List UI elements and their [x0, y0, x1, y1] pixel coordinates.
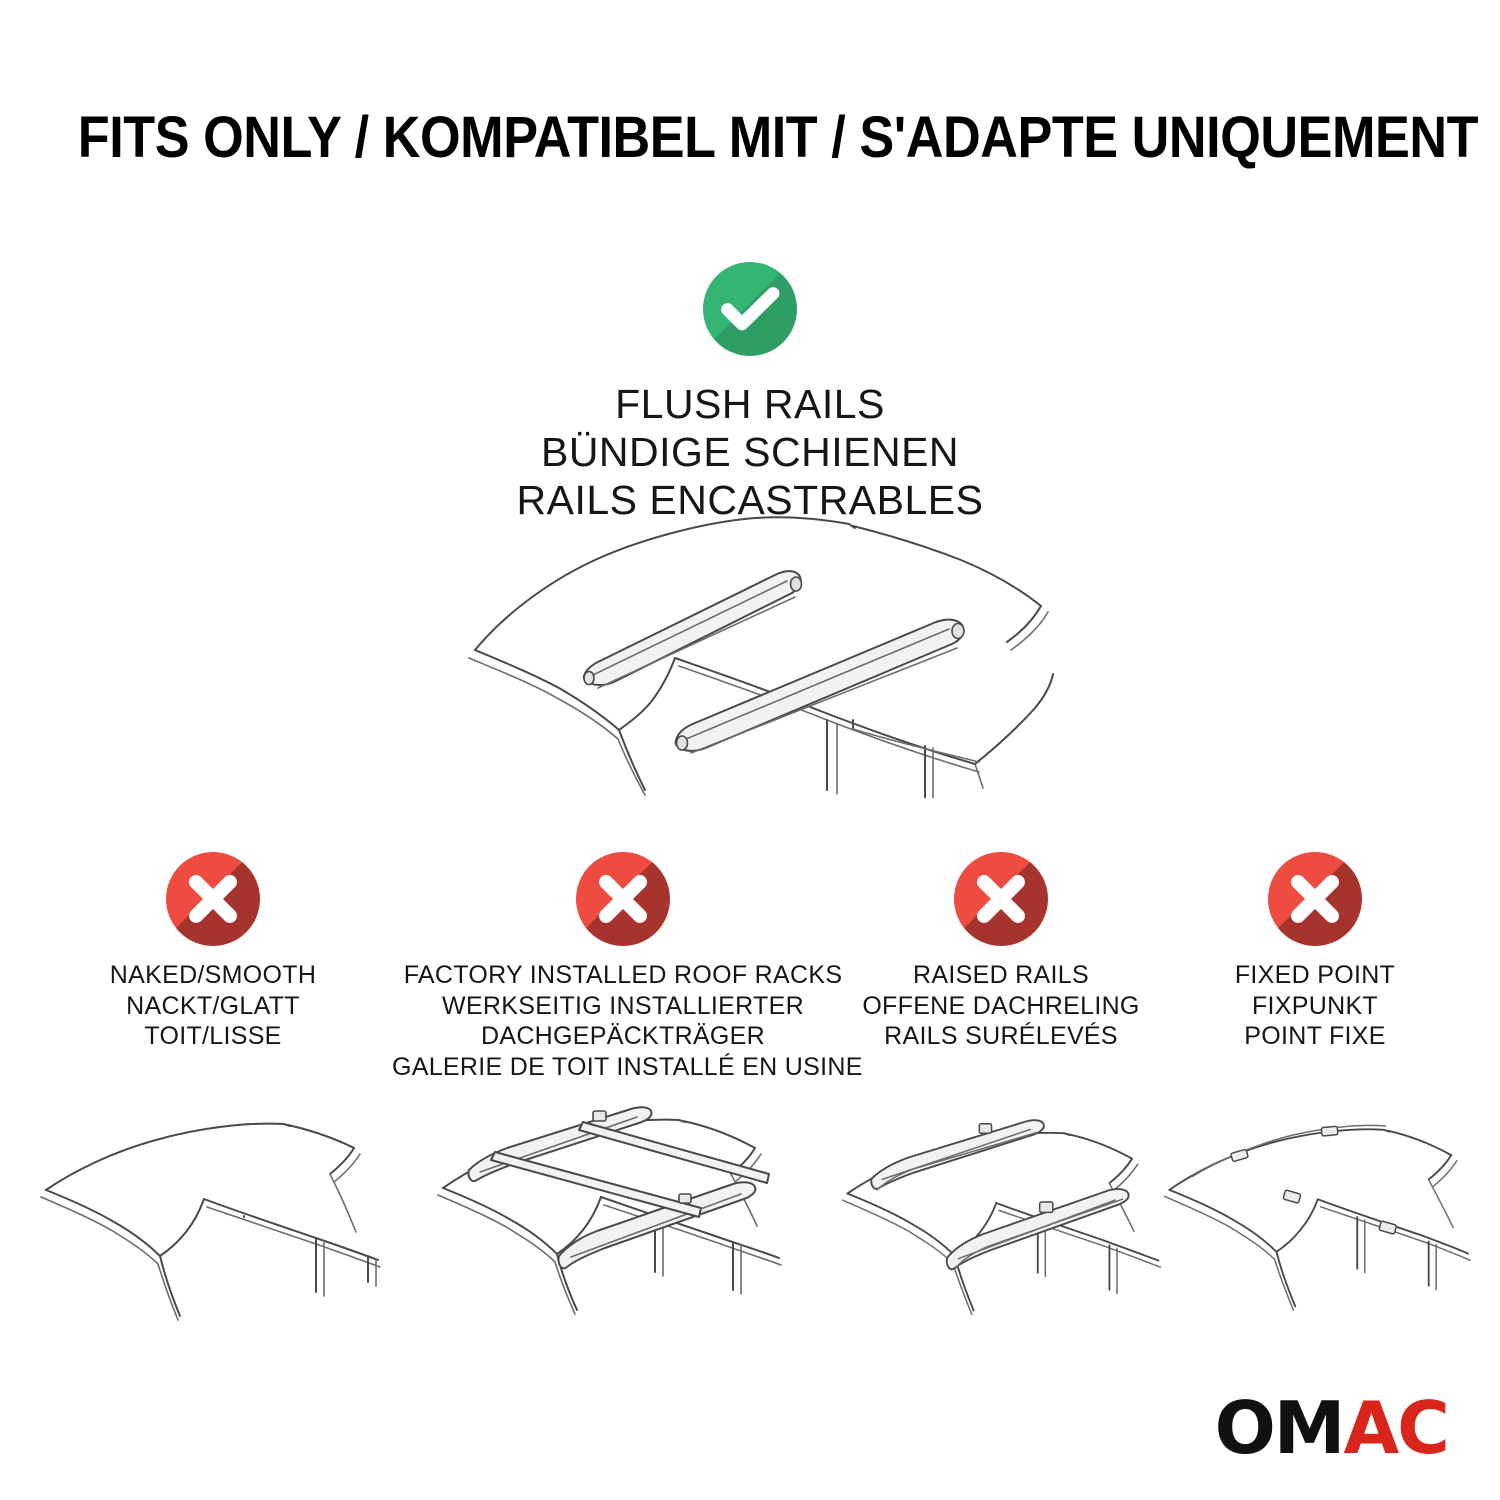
incompatible-section: NAKED/SMOOTH NACKT/GLATT TOIT/LISSE	[0, 852, 1500, 1332]
label-en-1: NAKED/SMOOTH	[38, 960, 388, 991]
incompatible-labels-4: FIXED POINT FIXPUNKT POINT FIXE	[1160, 960, 1470, 1052]
x-mark-glyph	[954, 852, 1048, 946]
x-circle-icon	[166, 852, 260, 946]
x-mark-glyph	[576, 852, 670, 946]
incompatible-icon-wrap-3	[836, 852, 1166, 948]
compatible-heading-en: FLUSH RAILS	[0, 381, 1500, 429]
omac-logo-accent: AC	[1343, 1386, 1448, 1470]
page-title: FITS ONLY / KOMPATIBEL MIT / S'ADAPTE UN…	[78, 104, 1478, 171]
label-en-3: RAISED RAILS	[836, 960, 1166, 991]
car-roof-naked-illustration	[38, 1104, 388, 1334]
incompatible-labels-3: RAISED RAILS OFFENE DACHRELING RAILS SUR…	[836, 960, 1166, 1052]
incompatible-icon-wrap-1	[38, 852, 388, 948]
x-circle-icon	[954, 852, 1048, 946]
incompatible-item-fixed-point: FIXED POINT FIXPUNKT POINT FIXE	[1160, 852, 1470, 1334]
incompatible-item-factory-racks: FACTORY INSTALLED ROOF RACKS WERKSEITIG …	[392, 852, 854, 1326]
car-roof-factory-racks-illustration	[392, 1096, 854, 1326]
check-mark-glyph	[703, 262, 797, 356]
incompatible-item-raised-rails: RAISED RAILS OFFENE DACHRELING RAILS SUR…	[836, 852, 1166, 1334]
page-title-bar: FITS ONLY / KOMPATIBEL MIT / S'ADAPTE UN…	[0, 104, 1500, 171]
x-circle-icon	[576, 852, 670, 946]
car-roof-flush-rails-illustration	[455, 498, 1065, 798]
label-de-1: NACKT/GLATT	[38, 991, 388, 1022]
label-fr-2: GALERIE DE TOIT INSTALLÉ EN USINE	[392, 1052, 854, 1083]
x-mark-glyph	[1268, 852, 1362, 946]
label-de-4: FIXPUNKT	[1160, 991, 1470, 1022]
x-circle-icon	[1268, 852, 1362, 946]
compatible-section: FLUSH RAILS BÜNDIGE SCHIENEN RAILS ENCAS…	[0, 262, 1500, 525]
x-mark-glyph	[166, 852, 260, 946]
label-de-3: OFFENE DACHRELING	[836, 991, 1166, 1022]
check-circle-icon	[703, 262, 797, 356]
omac-logo-dark: OM	[1215, 1386, 1344, 1470]
label-de-2b: DACHGEPÄCKTRÄGER	[392, 1021, 854, 1052]
label-fr-1: TOIT/LISSE	[38, 1021, 388, 1052]
car-roof-fixed-point-illustration	[1160, 1104, 1470, 1334]
incompatible-item-naked-smooth: NAKED/SMOOTH NACKT/GLATT TOIT/LISSE	[38, 852, 388, 1334]
omac-logo: OMAC	[1215, 1392, 1448, 1464]
incompatible-labels-2: FACTORY INSTALLED ROOF RACKS WERKSEITIG …	[392, 960, 854, 1082]
label-de-2a: WERKSEITIG INSTALLIERTER	[392, 991, 854, 1022]
label-fr-4: POINT FIXE	[1160, 1021, 1470, 1052]
incompatible-icon-wrap-4	[1160, 852, 1470, 948]
label-en-2: FACTORY INSTALLED ROOF RACKS	[392, 960, 854, 991]
incompatible-labels-1: NAKED/SMOOTH NACKT/GLATT TOIT/LISSE	[38, 960, 388, 1052]
incompatible-icon-wrap-2	[392, 852, 854, 948]
car-roof-raised-rails-illustration	[836, 1104, 1166, 1334]
compatible-heading-de: BÜNDIGE SCHIENEN	[0, 429, 1500, 477]
label-en-4: FIXED POINT	[1160, 960, 1470, 991]
label-fr-3: RAILS SURÉLEVÉS	[836, 1021, 1166, 1052]
